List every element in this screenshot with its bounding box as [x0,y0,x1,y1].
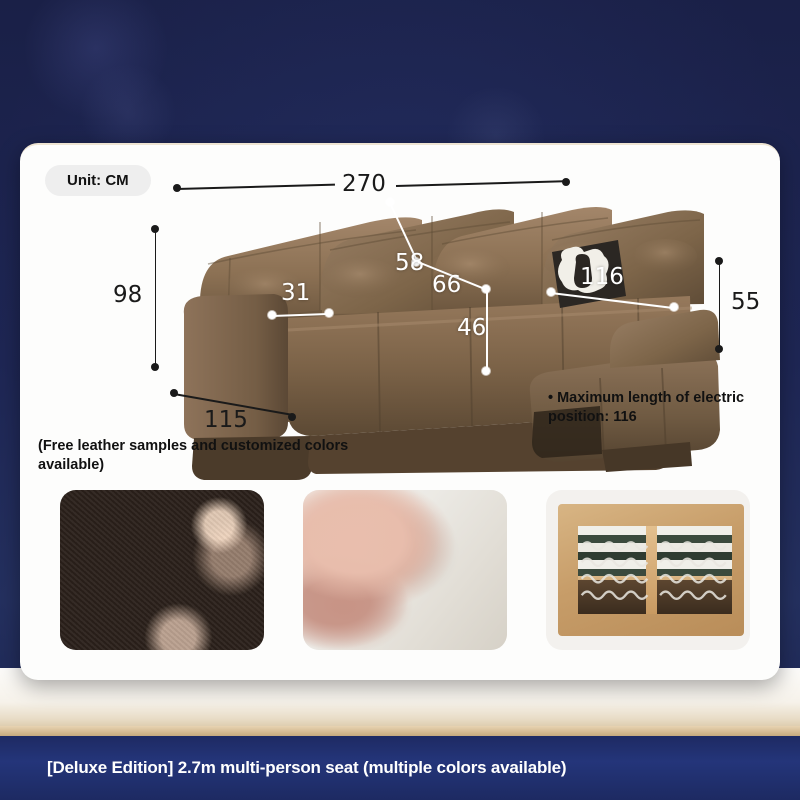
thumbnail-foam-density[interactable] [303,490,507,650]
thumbnail-leather-sample[interactable] [60,490,264,650]
dim-label-31: 31 [281,280,310,306]
leather-sample-image [60,490,264,650]
feature-thumbnails [60,490,750,650]
thumbnail-wood-frame[interactable] [546,490,750,650]
dim-label-98: 98 [113,282,142,308]
note-leather-samples: (Free leather samples and customized col… [38,437,368,475]
note-electric-position: • Maximum length of electric position: 1… [548,389,778,427]
dim-label-116: 116 [580,264,624,290]
dim-label-115: 115 [204,407,248,433]
spec-card: Unit: CM [20,143,780,680]
dim-label-55: 55 [731,289,760,315]
foam-density-image [303,490,507,650]
wood-frame-image [558,504,744,636]
product-caption-band: [Deluxe Edition] 2.7m multi-person seat … [0,736,800,800]
dim-label-270: 270 [342,171,386,197]
dim-label-66: 66 [432,272,461,298]
dim-label-46: 46 [457,315,486,341]
unit-badge: Unit: CM [45,165,151,196]
product-caption: [Deluxe Edition] 2.7m multi-person seat … [47,758,566,778]
serpentine-springs-icon [558,504,744,650]
